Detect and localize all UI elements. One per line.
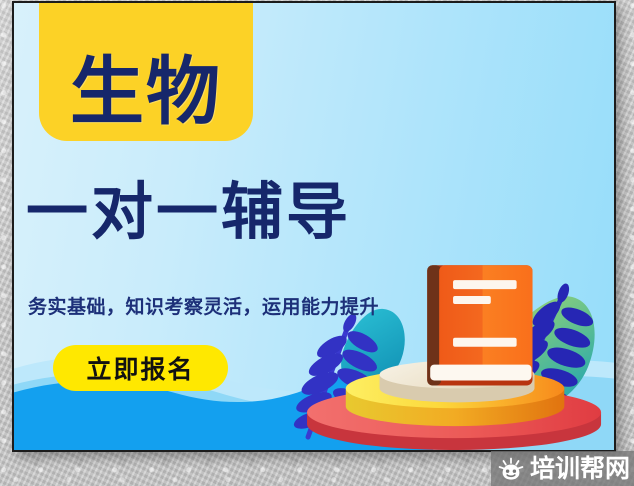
poster-frame: 生物 一对一辅导 务实基础，知识考察灵活，运用能力提升 立即报名 (12, 1, 616, 452)
poster-canvas: 生物 一对一辅导 务实基础，知识考察灵活，运用能力提升 立即报名 (14, 3, 614, 450)
watermark-text: 培训帮网 (530, 456, 630, 481)
sun-face-icon (498, 457, 524, 481)
page-title: 一对一辅导 (26, 181, 351, 243)
subject-badge: 生物 (39, 3, 253, 141)
watermark: 培训帮网 (491, 451, 634, 486)
subtitle-text: 务实基础，知识考察灵活，运用能力提升 (28, 292, 379, 319)
subject-badge-label: 生物 (70, 55, 222, 129)
book (427, 265, 532, 385)
screenshot-root: 生物 一对一辅导 务实基础，知识考察灵活，运用能力提升 立即报名 (0, 0, 634, 486)
enroll-now-button-label: 立即报名 (86, 350, 194, 386)
enroll-now-button[interactable]: 立即报名 (53, 345, 228, 391)
